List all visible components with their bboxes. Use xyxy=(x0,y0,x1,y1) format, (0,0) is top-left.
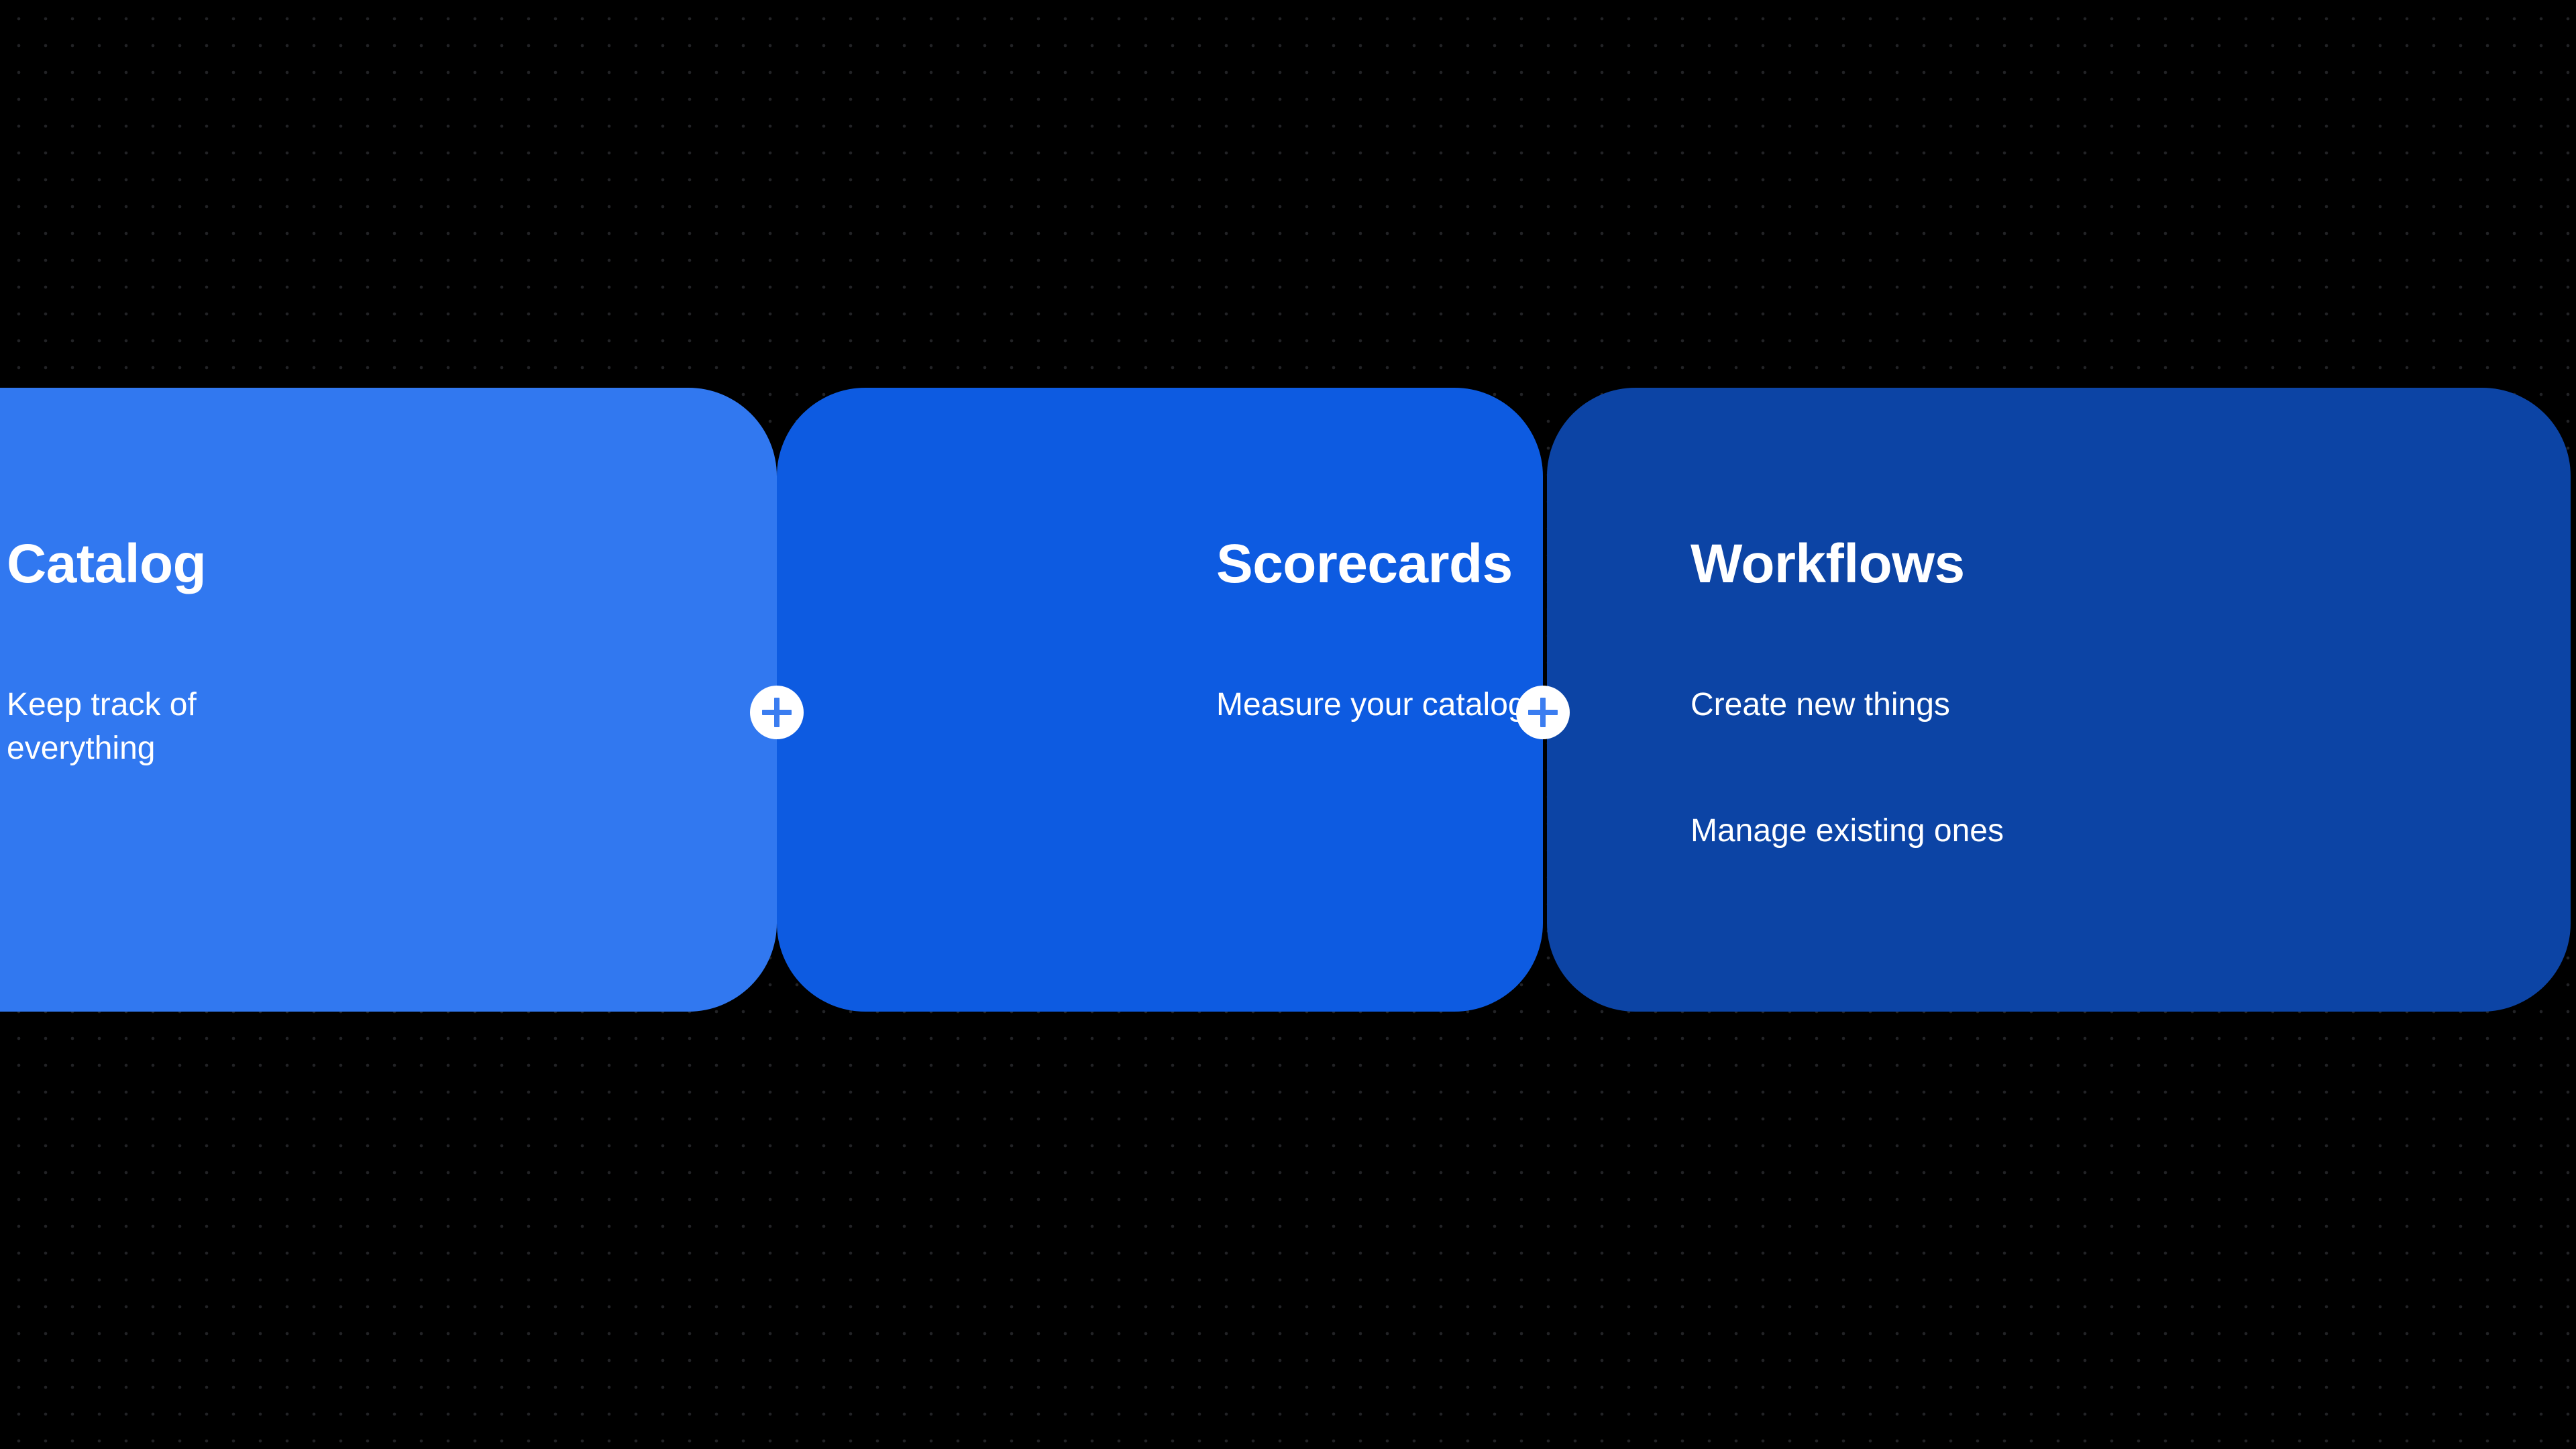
plus-connector-catalog-scorecards[interactable] xyxy=(750,686,804,739)
card-scorecards-description: Measure your catalog xyxy=(1216,683,1766,727)
card-workflows-description-line-2: Manage existing ones xyxy=(1690,809,2004,853)
card-catalog-title: Catalog xyxy=(7,537,206,592)
card-catalog[interactable]: Catalog Keep track of everything xyxy=(0,388,777,1012)
card-scorecards-title: Scorecards xyxy=(1216,537,1513,592)
diagram-canvas: Catalog Keep track of everything Scoreca… xyxy=(0,0,2576,1449)
plus-connector-scorecards-workflows[interactable] xyxy=(1516,686,1570,739)
card-catalog-description: Keep track of everything xyxy=(7,683,288,771)
card-scorecards[interactable]: Scorecards Measure your catalog xyxy=(777,388,1543,1012)
cards-row: Catalog Keep track of everything Scoreca… xyxy=(0,388,2576,1012)
card-workflows-title: Workflows xyxy=(1690,537,1965,592)
plus-icon xyxy=(1528,698,1558,727)
plus-icon xyxy=(762,698,792,727)
